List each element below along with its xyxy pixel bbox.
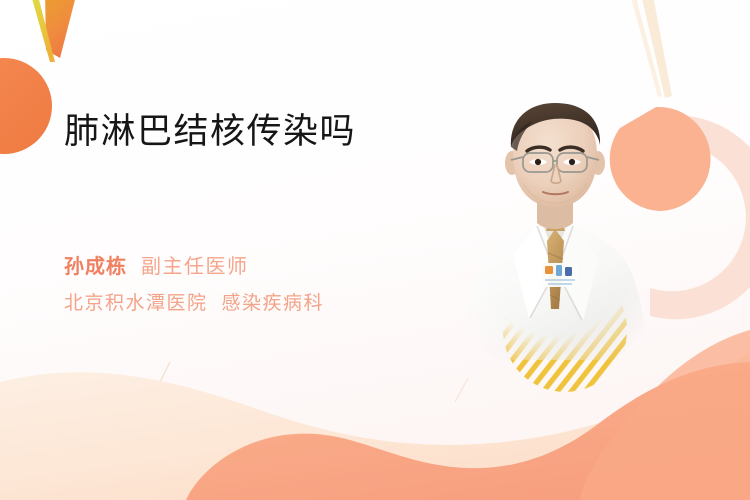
video-cover-canvas: 肺淋巴结核传染吗 孙成栋副主任医师 北京积水潭医院感染疾病科 <box>0 0 750 500</box>
department-name: 感染疾病科 <box>222 292 325 314</box>
doctor-identity-line: 孙成栋副主任医师 <box>64 250 249 279</box>
title-block: 肺淋巴结核传染吗 <box>64 112 494 153</box>
wave-lobe-right <box>580 330 750 500</box>
hospital-name: 北京积水潭医院 <box>64 292 208 314</box>
page-title: 肺淋巴结核传染吗 <box>64 112 494 153</box>
doctor-name: 孙成栋 <box>64 254 127 278</box>
doctor-affiliation-line: 北京积水潭医院感染疾病科 <box>64 288 324 315</box>
doctor-rank: 副主任医师 <box>141 254 249 278</box>
